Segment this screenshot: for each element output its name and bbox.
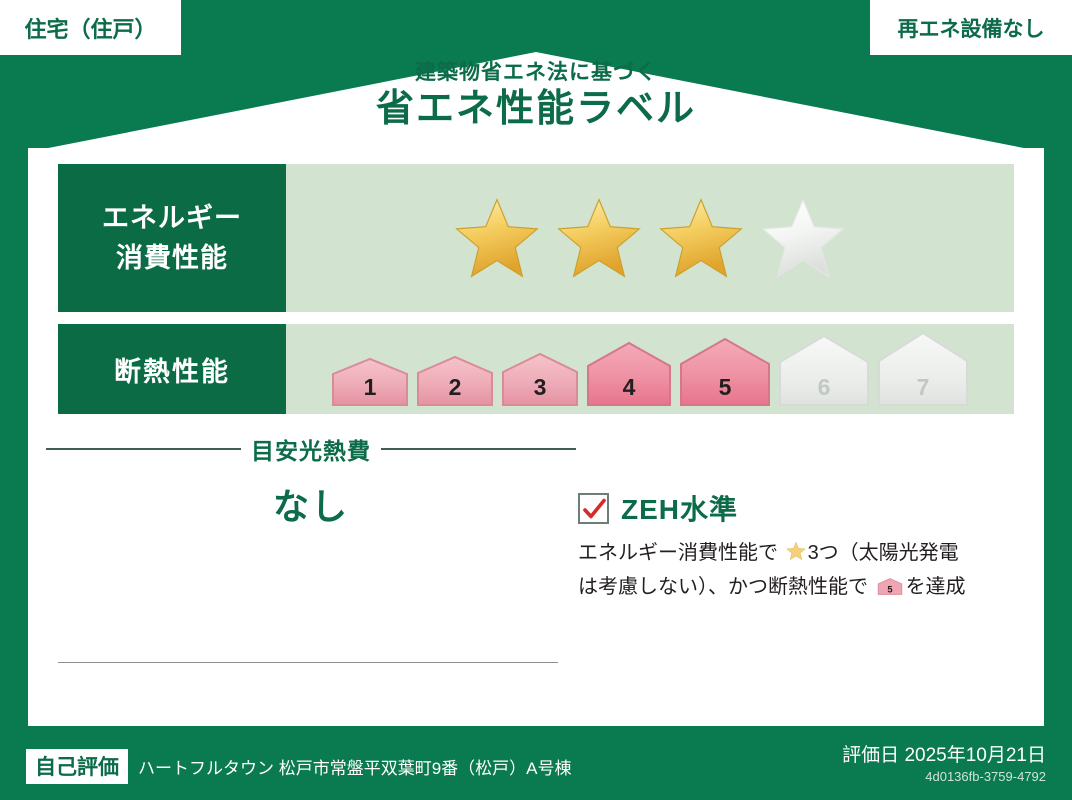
utility-cost-title: 目安光熱費 — [251, 432, 371, 466]
house-icon-inline: 5 — [877, 576, 903, 607]
title-subtitle: 建築物省エネ法に基づく — [0, 60, 1072, 86]
zeh-desc-part1: エネルギー消費性能で — [578, 542, 778, 564]
zeh-heading: ZEH水準 — [578, 488, 1018, 528]
star-icon-empty-4 — [755, 190, 851, 286]
house-grade-number: 1 — [328, 374, 412, 401]
house-grade-number: 4 — [583, 374, 675, 401]
evaluation-date: 評価日 2025年10月21日 — [842, 744, 1046, 768]
building-type-label: 住宅（住戸） — [24, 12, 156, 44]
energy-performance-row: エネルギー 消費性能 — [58, 164, 1014, 312]
utility-cost-value: なし — [46, 478, 576, 530]
house-icon-grade-1: 1 — [328, 356, 412, 408]
renewable-energy-tag: 再エネ設備なし — [870, 0, 1072, 55]
house-icon-grade-6: 6 — [775, 333, 873, 408]
star-icon-inline — [785, 540, 807, 572]
zeh-checkbox[interactable] — [578, 493, 609, 524]
house-grade-number: 2 — [413, 374, 497, 401]
insulation-grade-scale: 1 2 3 — [328, 330, 972, 408]
house-icon-grade-3: 3 — [498, 351, 582, 408]
divider-left — [46, 448, 241, 450]
divider-right — [381, 448, 576, 450]
star-rating — [449, 190, 851, 286]
energy-performance-label: 住宅（住戸） 再エネ設備なし 建築物省エネ法に基づく 省エネ性能ラベル エネルギ… — [0, 0, 1072, 800]
house-icon-grade-2: 2 — [413, 354, 497, 408]
zeh-description: エネルギー消費性能で 3つ（太陽光発電 は考慮しない）、かつ断熱性能で 5 を達… — [578, 538, 1018, 607]
insulation-performance-row-label: 断熱性能 — [58, 324, 286, 414]
label-id: 4d0136fb-3759-4792 — [842, 768, 1046, 786]
insulation-performance-row-value: 1 2 3 — [286, 324, 1014, 414]
house-inline-number: 5 — [887, 585, 892, 595]
page-title: 省エネ性能ラベル — [0, 86, 1072, 132]
zeh-section: ZEH水準 エネルギー消費性能で 3つ（太陽光発電 は考慮しない）、かつ断熱性能… — [578, 488, 1018, 607]
house-grade-number: 5 — [676, 374, 774, 401]
star-icon-filled-3 — [653, 190, 749, 286]
house-icon-grade-4: 4 — [583, 340, 675, 408]
zeh-title: ZEH水準 — [621, 488, 738, 528]
insulation-label: 断熱性能 — [114, 350, 230, 389]
title-block: 建築物省エネ法に基づく 省エネ性能ラベル — [0, 60, 1072, 132]
insulation-performance-row: 断熱性能 — [58, 324, 1014, 414]
building-type-tag: 住宅（住戸） — [0, 0, 181, 55]
star-icon-filled-2 — [551, 190, 647, 286]
utility-cost-bottom-divider — [58, 662, 558, 663]
renewable-energy-label: 再エネ設備なし — [898, 13, 1045, 43]
footer-left: 自己評価 ハートフルタウン 松戸市常盤平双葉町9番（松戸）A号棟 — [26, 749, 572, 784]
check-icon — [582, 497, 607, 522]
zeh-desc-part2: 3つ（太陽光発電 — [808, 542, 959, 564]
zeh-desc-part3: は考慮しない）、かつ断熱性能で — [578, 576, 868, 598]
energy-performance-row-value — [286, 164, 1014, 312]
house-icon-grade-7: 7 — [874, 330, 972, 408]
zeh-desc-part4: を達成 — [906, 576, 966, 598]
house-grade-number: 3 — [498, 374, 582, 401]
energy-label-line2: 消費性能 — [116, 238, 228, 278]
house-grade-number: 6 — [775, 374, 873, 401]
self-evaluation-badge: 自己評価 — [26, 749, 128, 784]
energy-performance-row-label: エネルギー 消費性能 — [58, 164, 286, 312]
footer-right: 評価日 2025年10月21日 4d0136fb-3759-4792 — [842, 744, 1046, 786]
property-address: ハートフルタウン 松戸市常盤平双葉町9番（松戸）A号棟 — [138, 754, 572, 779]
house-grade-number: 7 — [874, 374, 972, 401]
house-icon-grade-5: 5 — [676, 336, 774, 408]
utility-cost-heading: 目安光熱費 — [46, 436, 576, 462]
label-body-panel: エネルギー 消費性能 — [28, 148, 1044, 726]
star-icon-filled-1 — [449, 190, 545, 286]
energy-label-line1: エネルギー — [102, 198, 242, 238]
